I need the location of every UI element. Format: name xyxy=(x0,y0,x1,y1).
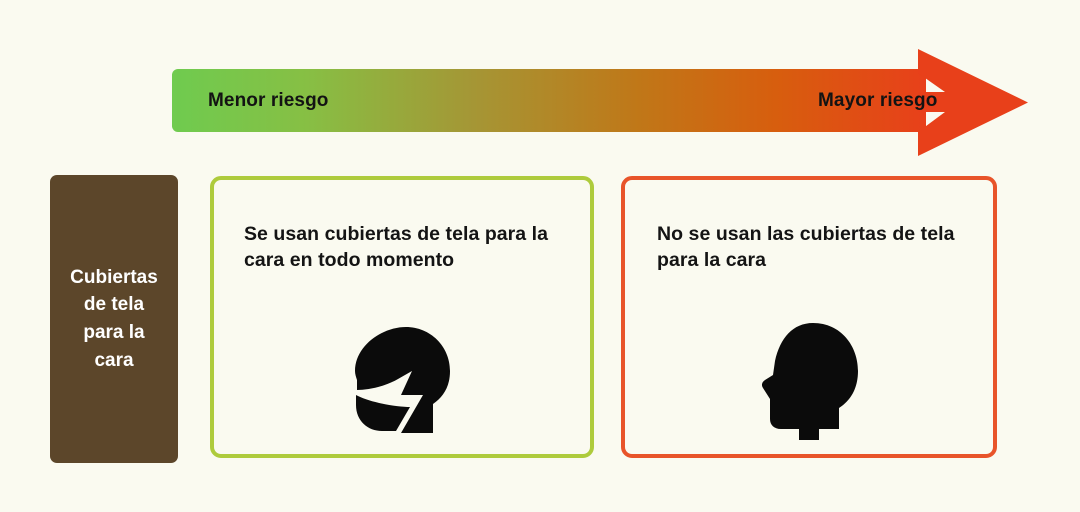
arrow-label-lower-risk: Menor riesgo xyxy=(208,90,329,112)
scenario-card-masked-text: Se usan cubiertas de tela para la cara e… xyxy=(244,222,568,274)
arrow-label-higher-risk: Mayor riesgo xyxy=(818,90,937,112)
scenario-card-unmasked-text: No se usan las cubiertas de tela para la… xyxy=(657,222,971,274)
scenario-card-unmasked: No se usan las cubiertas de tela para la… xyxy=(621,176,997,458)
category-label-text: Cubiertas de tela para la cara xyxy=(70,264,158,374)
head-with-face-mask-icon xyxy=(214,327,590,433)
infographic-canvas: Menor riesgo Mayor riesgo Cubiertas de t… xyxy=(0,0,1080,512)
head-without-face-mask-icon xyxy=(625,323,993,440)
scenario-card-masked: Se usan cubiertas de tela para la cara e… xyxy=(210,176,594,458)
category-label-box: Cubiertas de tela para la cara xyxy=(50,175,178,463)
